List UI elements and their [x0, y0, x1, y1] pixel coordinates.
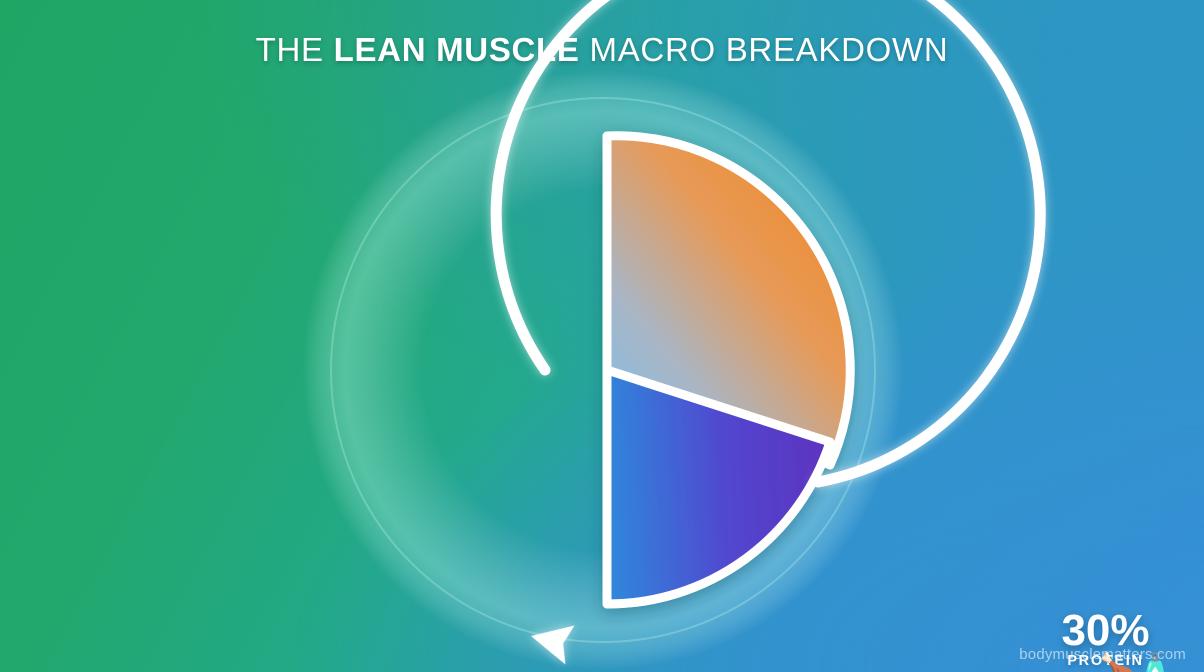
pie-chart-svg: [273, 40, 933, 672]
site-watermark: bodymusclematters.com: [1019, 646, 1186, 663]
